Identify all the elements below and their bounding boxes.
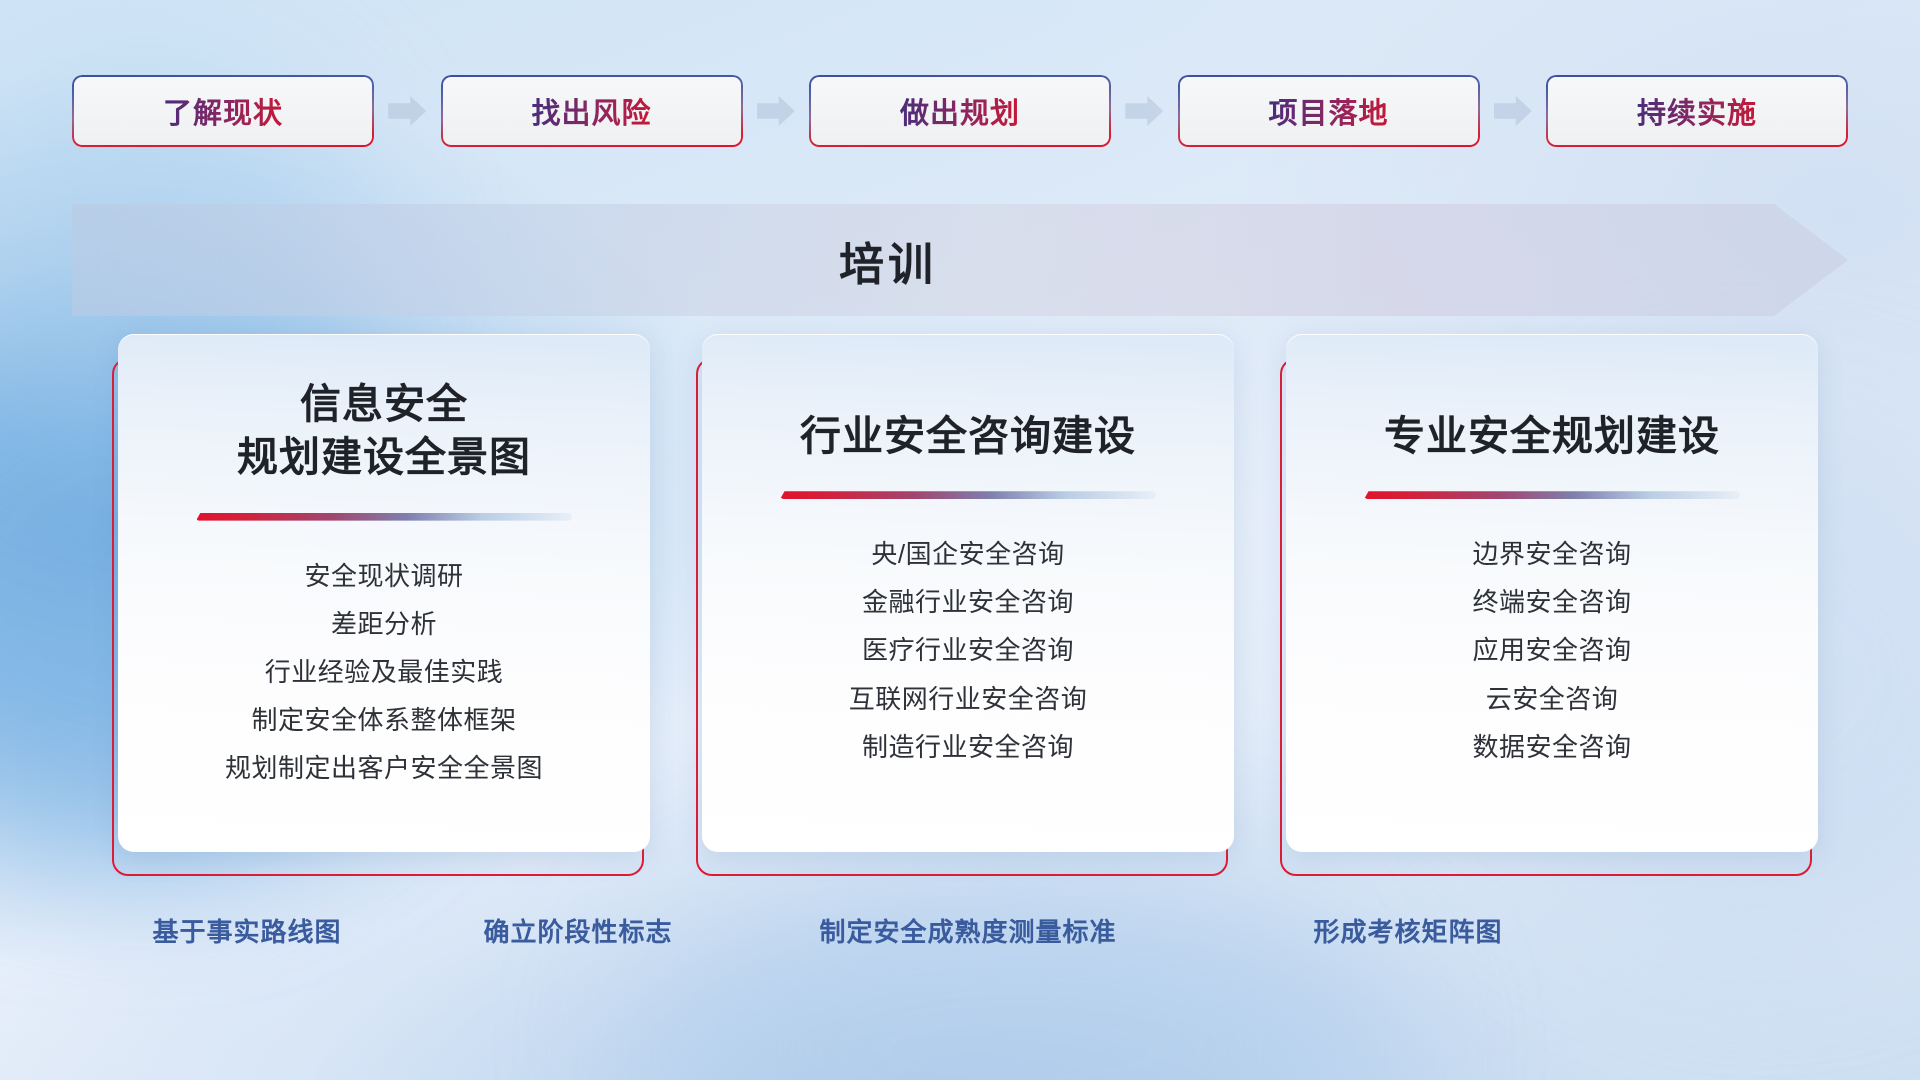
card-list-3: 边界安全咨询 终端安全咨询 应用安全咨询 云安全咨询 数据安全咨询 [1472, 537, 1631, 764]
list-item: 行业经验及最佳实践 [265, 655, 504, 690]
step-label-3: 做出规划 [809, 75, 1111, 147]
list-item: 金融行业安全咨询 [862, 585, 1074, 620]
card-face-1: 信息安全 规划建设全景图 安全现状调研 差距分析 行业经验及最佳实践 制定安全体… [118, 334, 650, 852]
training-banner-label: 培训 [0, 204, 1776, 316]
step-chip-2[interactable]: 找出风险 [441, 75, 743, 147]
caption-4: 形成考核矩阵图 [1313, 912, 1502, 949]
feature-card-3[interactable]: 专业安全规划建设 边界安全咨询 终端安全咨询 应用安全咨询 云安全咨询 数据安全… [1280, 334, 1812, 876]
list-item: 终端安全咨询 [1472, 585, 1631, 620]
card-title-1: 信息安全 规划建设全景图 [237, 378, 531, 485]
feature-card-1[interactable]: 信息安全 规划建设全景图 安全现状调研 差距分析 行业经验及最佳实践 制定安全体… [112, 334, 644, 876]
card-divider-2 [780, 491, 1156, 499]
card-list-1: 安全现状调研 差距分析 行业经验及最佳实践 制定安全体系整体框架 规划制定出客户… [225, 559, 543, 786]
slide-canvas: 了解现状 找出风险 做出规划 项目落地 持续实施 培训 信息安全 规划建设全景图 [0, 0, 1920, 1080]
arrow-right-icon-2 [757, 96, 795, 126]
card-divider-3 [1364, 491, 1740, 499]
step-label-5: 持续实施 [1546, 75, 1848, 147]
card-title-3: 专业安全规划建设 [1384, 410, 1720, 463]
card-divider-1 [196, 513, 572, 521]
list-item: 安全现状调研 [304, 559, 463, 594]
bottom-captions: 基于事实路线图 确立阶段性标志 制定安全成熟度测量标准 形成考核矩阵图 [0, 912, 1920, 960]
card-face-2: 行业安全咨询建设 央/国企安全咨询 金融行业安全咨询 医疗行业安全咨询 互联网行… [702, 334, 1234, 852]
card-title-2: 行业安全咨询建设 [800, 410, 1136, 463]
list-item: 规划制定出客户安全全景图 [225, 751, 543, 786]
step-chip-4[interactable]: 项目落地 [1178, 75, 1480, 147]
list-item: 医疗行业安全咨询 [862, 633, 1074, 668]
card-list-2: 央/国企安全咨询 金融行业安全咨询 医疗行业安全咨询 互联网行业安全咨询 制造行… [849, 537, 1088, 764]
list-item: 差距分析 [331, 607, 437, 642]
caption-3: 制定安全成熟度测量标准 [819, 912, 1116, 949]
caption-1: 基于事实路线图 [152, 912, 341, 949]
arrow-right-icon-3 [1125, 96, 1163, 126]
list-item: 数据安全咨询 [1472, 730, 1631, 765]
list-item: 互联网行业安全咨询 [849, 682, 1088, 717]
arrow-right-icon-4 [1494, 96, 1532, 126]
feature-card-2[interactable]: 行业安全咨询建设 央/国企安全咨询 金融行业安全咨询 医疗行业安全咨询 互联网行… [696, 334, 1228, 876]
step-label-4: 项目落地 [1178, 75, 1480, 147]
step-label-2: 找出风险 [441, 75, 743, 147]
process-steps: 了解现状 找出风险 做出规划 项目落地 持续实施 [72, 74, 1848, 148]
step-chip-3[interactable]: 做出规划 [809, 75, 1111, 147]
card-face-3: 专业安全规划建设 边界安全咨询 终端安全咨询 应用安全咨询 云安全咨询 数据安全… [1286, 334, 1818, 852]
step-chip-5[interactable]: 持续实施 [1546, 75, 1848, 147]
list-item: 云安全咨询 [1486, 682, 1619, 717]
list-item: 边界安全咨询 [1472, 537, 1631, 572]
list-item: 应用安全咨询 [1472, 633, 1631, 668]
background-glow-bottom [640, 860, 1400, 1080]
step-chip-1[interactable]: 了解现状 [72, 75, 374, 147]
arrow-right-icon-1 [388, 96, 426, 126]
list-item: 央/国企安全咨询 [871, 537, 1064, 572]
list-item: 制造行业安全咨询 [862, 730, 1074, 765]
list-item: 制定安全体系整体框架 [251, 703, 516, 738]
step-label-1: 了解现状 [72, 75, 374, 147]
caption-2: 确立阶段性标志 [483, 912, 672, 949]
feature-cards: 信息安全 规划建设全景图 安全现状调研 差距分析 行业经验及最佳实践 制定安全体… [112, 334, 1812, 876]
